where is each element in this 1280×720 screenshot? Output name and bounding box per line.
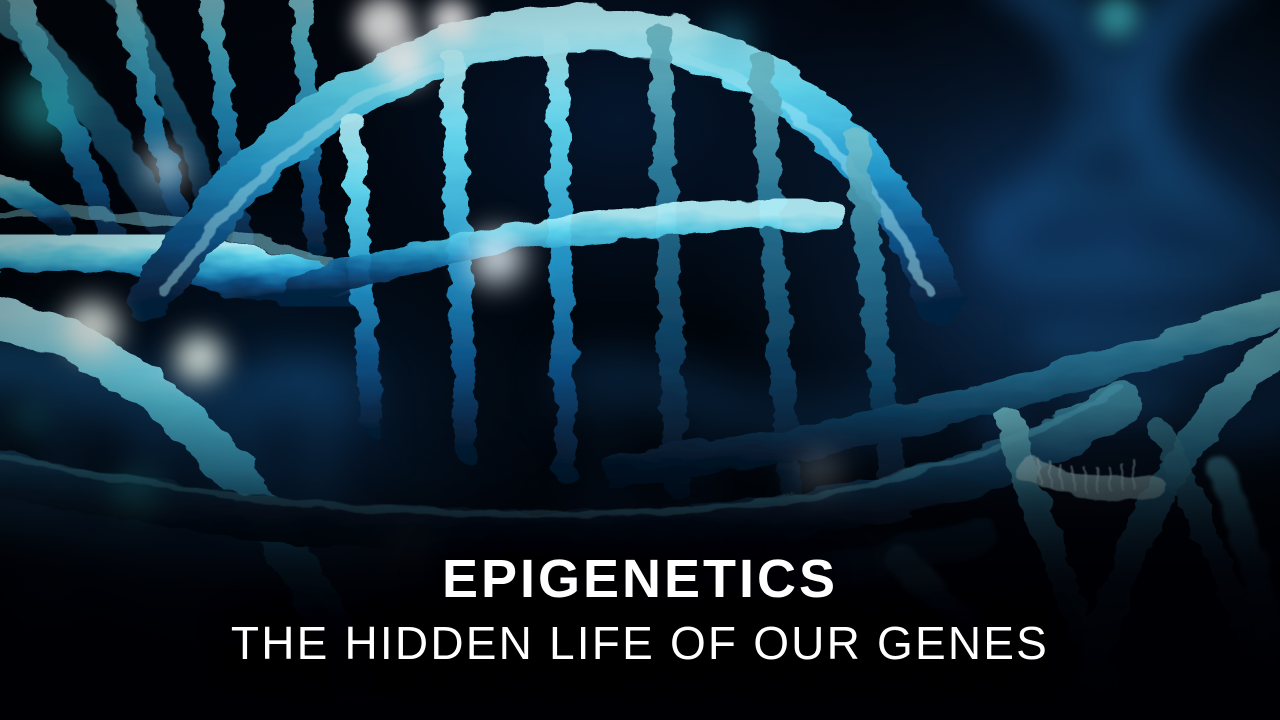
title-block: EPIGENETICS THE HIDDEN LIFE OF OUR GENES [0, 552, 1280, 666]
page-title: EPIGENETICS [0, 552, 1280, 606]
video-thumbnail-frame: EPIGENETICS THE HIDDEN LIFE OF OUR GENES [0, 0, 1280, 720]
page-subtitle: THE HIDDEN LIFE OF OUR GENES [0, 620, 1280, 666]
